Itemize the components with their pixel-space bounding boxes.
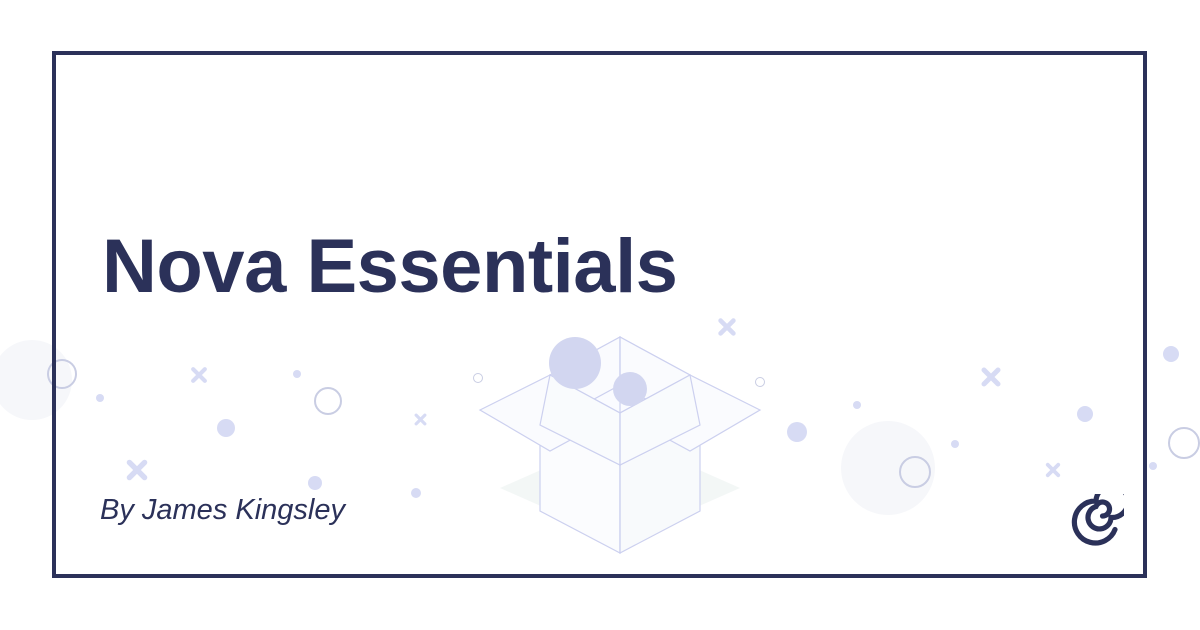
cover-byline: By James Kingsley bbox=[100, 494, 345, 527]
cover-canvas: Nova Essentials By James Kingsley bbox=[0, 0, 1200, 630]
decor-dot bbox=[1149, 462, 1157, 470]
decor-ring bbox=[1168, 427, 1200, 459]
open-box-icon bbox=[470, 295, 770, 560]
cover-title: Nova Essentials bbox=[102, 223, 677, 310]
spiral-icon bbox=[1068, 494, 1124, 550]
decor-dot bbox=[1163, 346, 1179, 362]
